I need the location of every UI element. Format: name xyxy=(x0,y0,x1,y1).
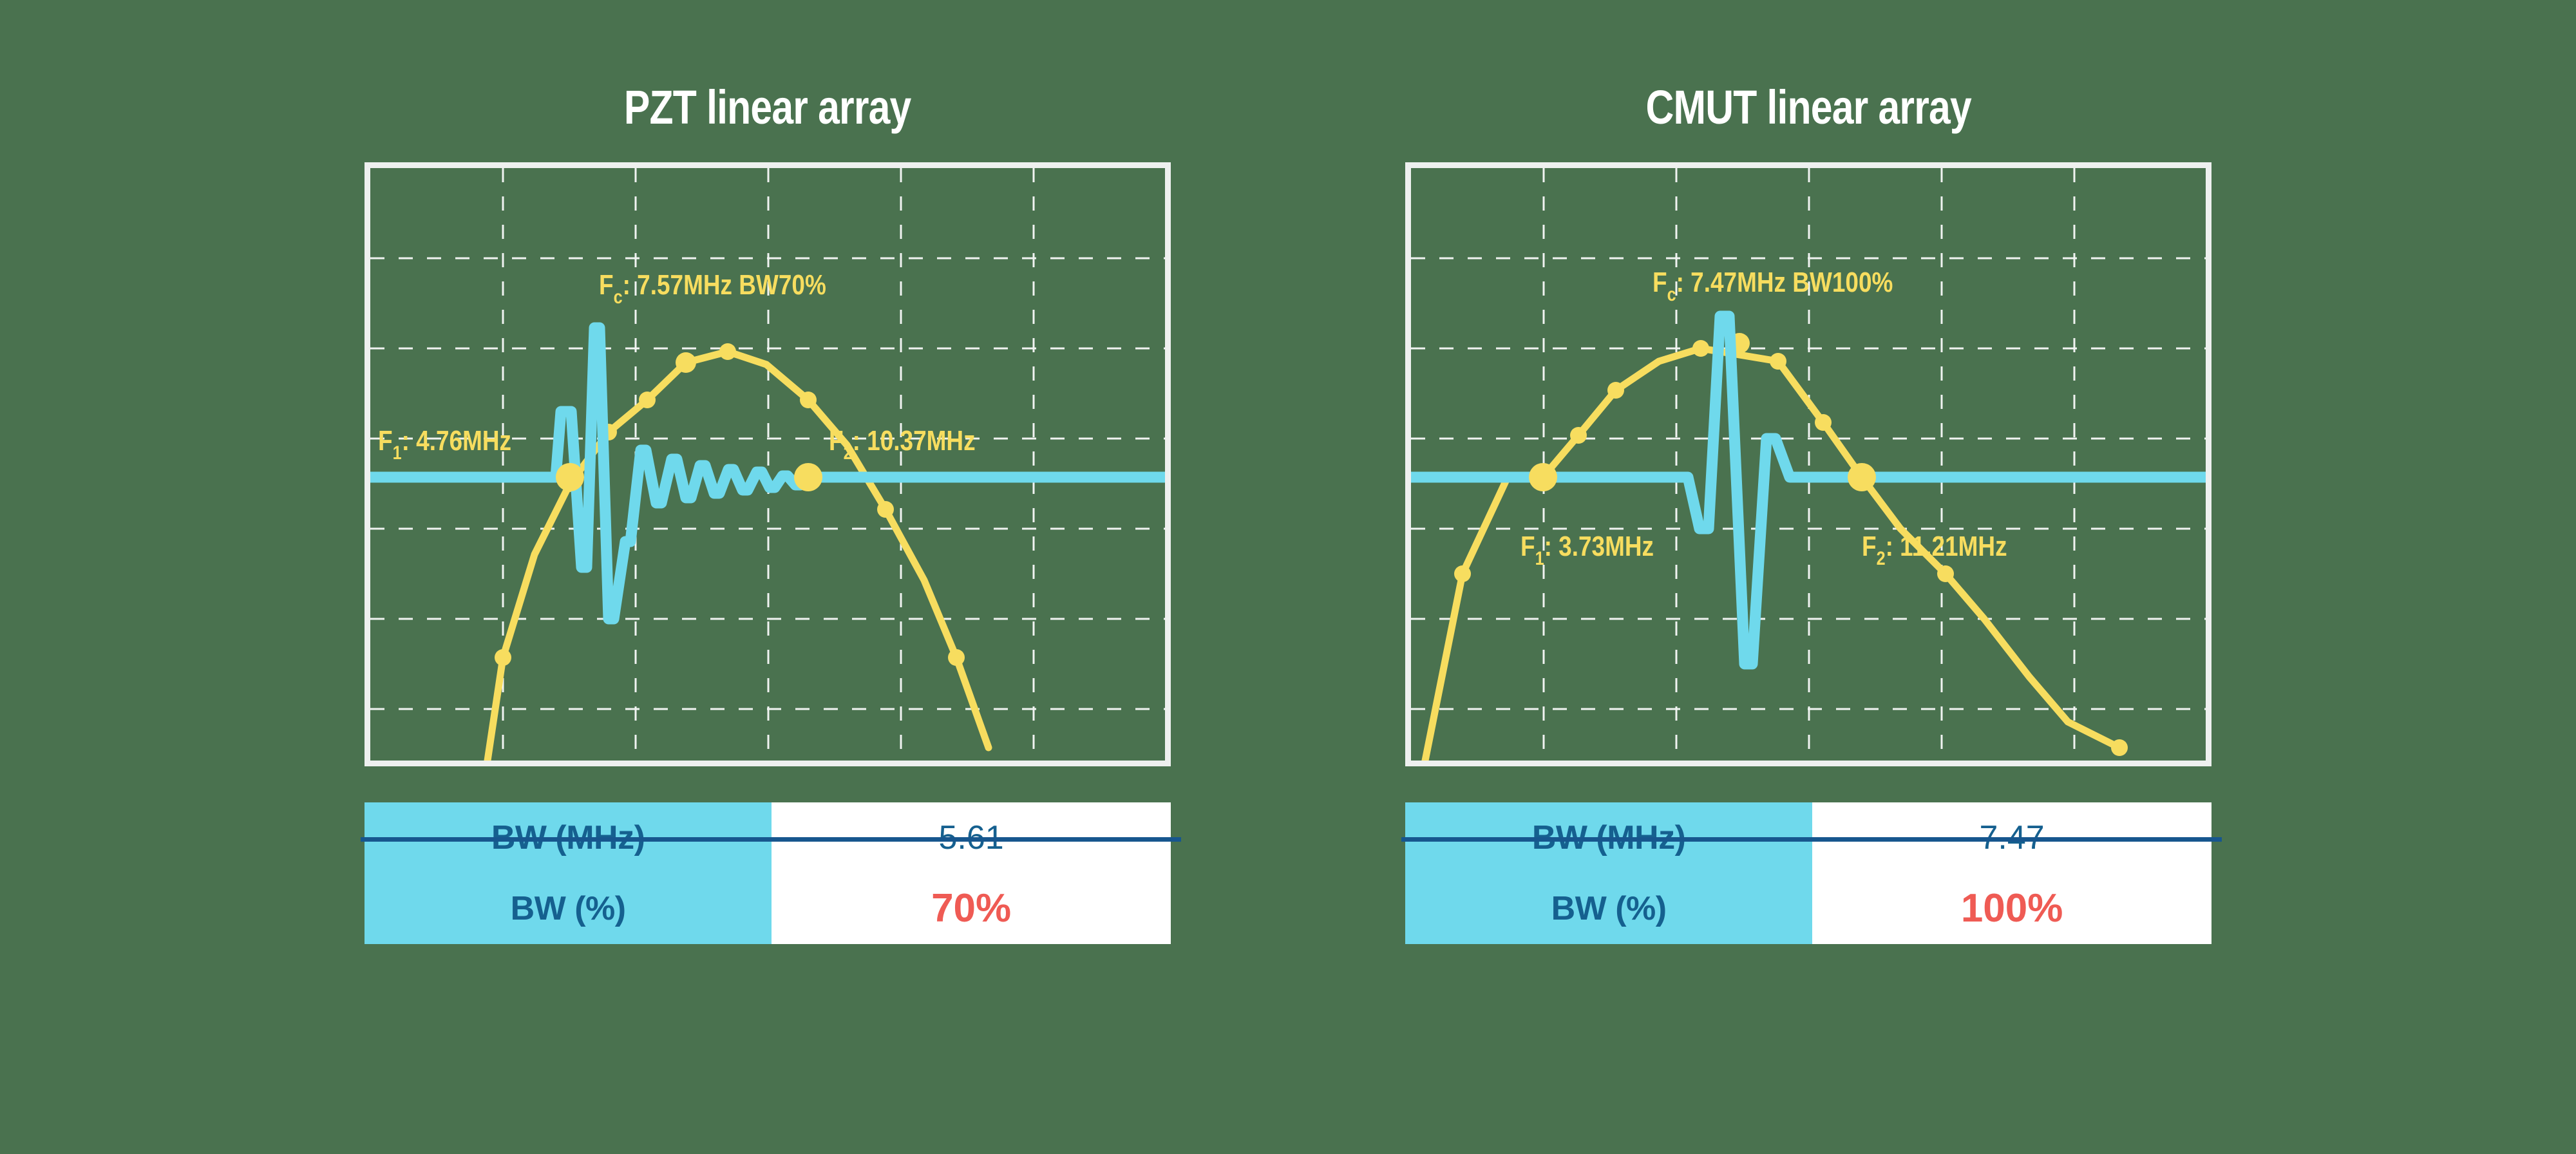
annotation-f1-cmut: F1: 3.73MHz xyxy=(1520,530,1654,569)
grid-lines-cmut xyxy=(1411,168,2206,761)
bw-pct-label-cmut: BW (%) xyxy=(1405,873,1812,944)
annotation-f1-pzt: F1: 4.76MHz xyxy=(378,424,511,464)
table-row: BW (%) 70% xyxy=(365,873,1171,944)
table-row-divider-pzt xyxy=(361,837,1181,842)
table-row: BW (%) 100% xyxy=(1405,873,2211,944)
grid-lines-pzt xyxy=(370,168,1165,761)
annotation-fc-cmut: Fc: 7.47MHz BW100% xyxy=(1653,266,1893,305)
marker-f2-cmut xyxy=(1848,463,1876,491)
marker-f1-cmut xyxy=(1529,463,1557,491)
bw-table-cmut: BW (MHz) 7.47 BW (%) 100% xyxy=(1405,802,2211,944)
bw-pct-value-pzt: 70% xyxy=(772,873,1171,944)
marker-f1-pzt xyxy=(556,463,584,491)
chart-cmut-spectrum: Fc: 7.47MHz BW100% F1: 3.73MHz F2: 11.21… xyxy=(1405,162,2211,766)
table-wrap-pzt: BW (MHz) 5.61 BW (%) 70% xyxy=(365,766,1171,944)
bw-table-pzt: BW (MHz) 5.61 BW (%) 70% xyxy=(365,802,1171,944)
marker-f2-pzt xyxy=(794,463,822,491)
cmut-svg: Fc: 7.47MHz BW100% F1: 3.73MHz F2: 11.21… xyxy=(1411,168,2206,761)
chart-pzt-spectrum: Fc: 7.57MHz BW70% F1: 4.76MHz F2: 10.37M… xyxy=(365,162,1171,766)
comparison-panels: PZT linear array xyxy=(0,0,2576,1154)
panel-title-pzt: PZT linear array xyxy=(624,84,911,131)
annotation-fc-pzt: Fc: 7.57MHz BW70% xyxy=(599,269,826,308)
spectrum-markers-pzt xyxy=(495,343,965,666)
pzt-svg: Fc: 7.57MHz BW70% F1: 4.76MHz F2: 10.37M… xyxy=(370,168,1165,761)
annotation-f2-pzt: F2: 10.37MHz xyxy=(829,424,976,464)
bw-pct-value-cmut: 100% xyxy=(1812,873,2211,944)
marker-fc-pzt xyxy=(676,352,696,373)
table-wrap-cmut: BW (MHz) 7.47 BW (%) 100% xyxy=(1405,766,2211,944)
table-row-divider-cmut xyxy=(1401,837,2222,842)
panel-pzt: PZT linear array xyxy=(363,84,1172,944)
panel-cmut: CMUT linear array xyxy=(1404,84,2213,944)
bw-pct-label-pzt: BW (%) xyxy=(365,873,772,944)
panel-title-cmut: CMUT linear array xyxy=(1645,84,1971,131)
